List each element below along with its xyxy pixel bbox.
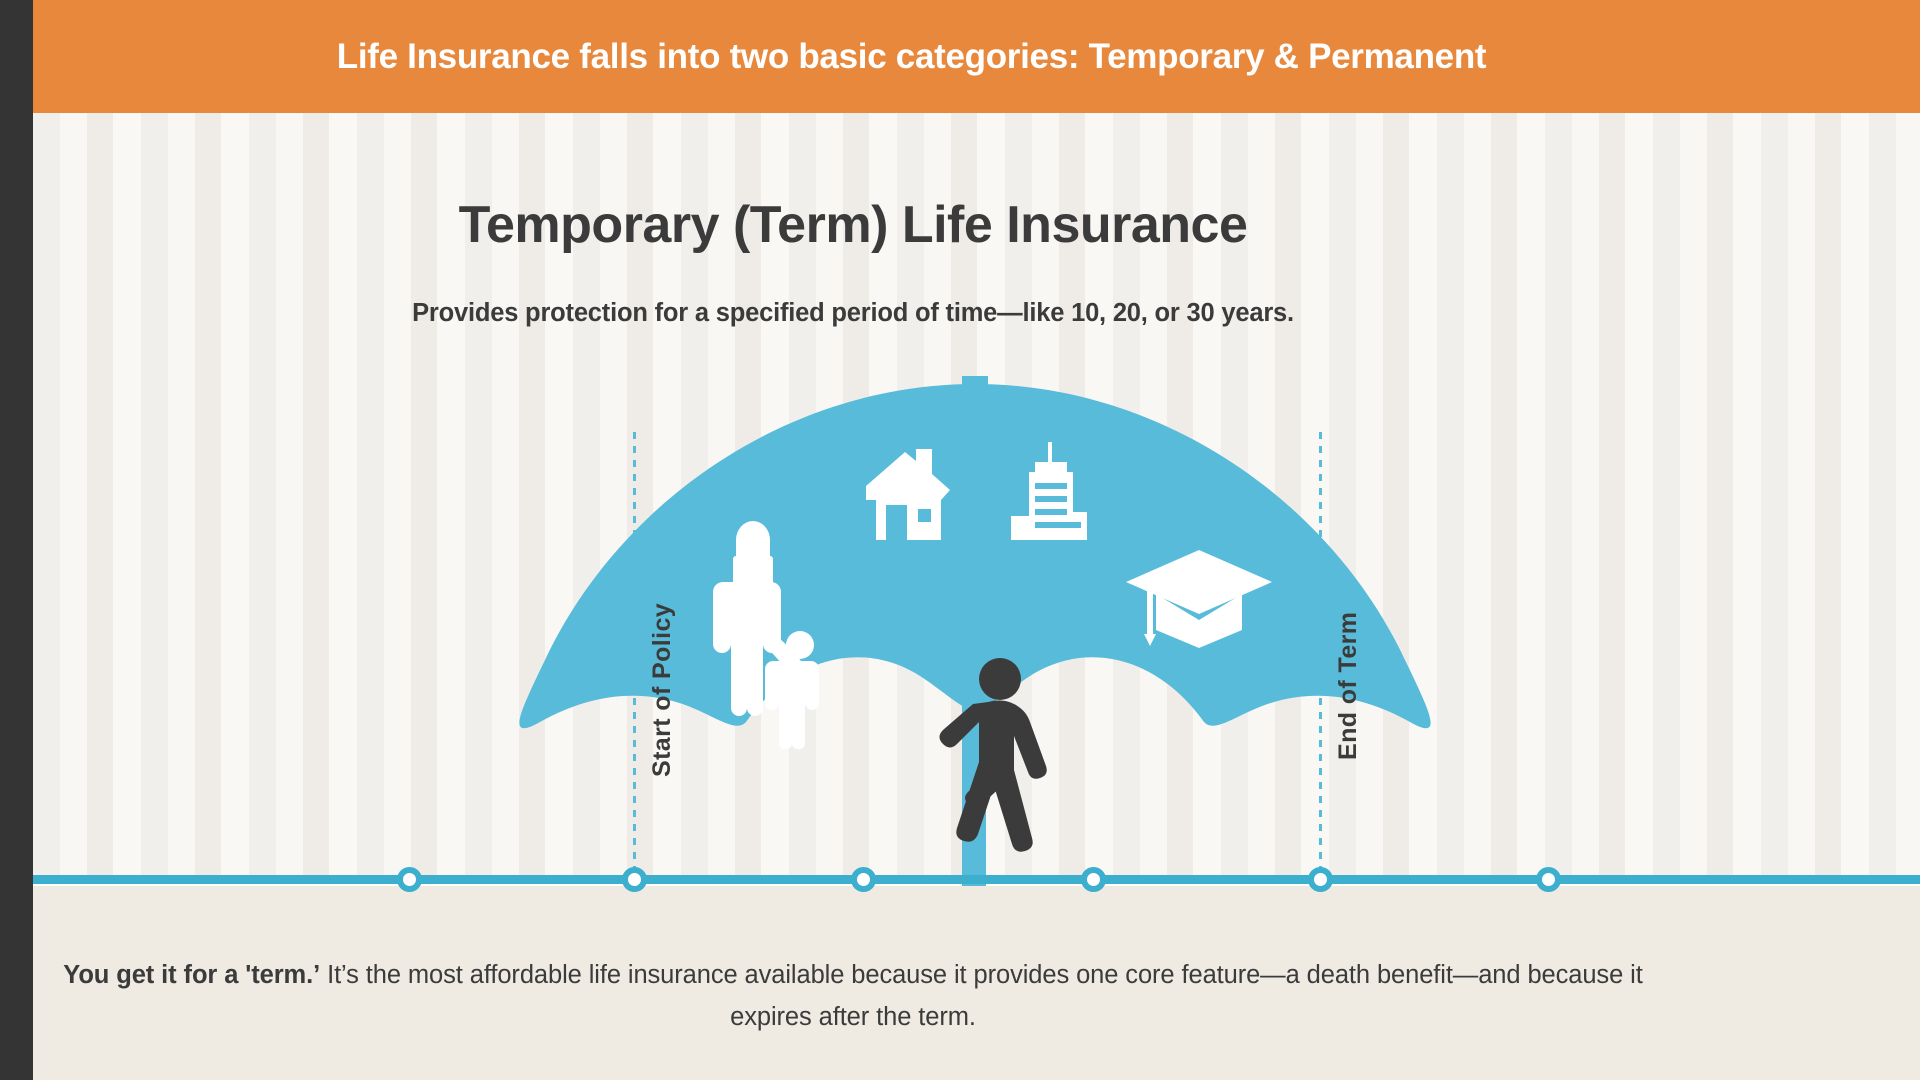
page-subtitle: Provides protection for a specified peri…	[33, 299, 1673, 328]
timeline-dot[interactable]	[622, 867, 647, 892]
infographic-slide: Temporary (Term) Life Insurance Provides…	[0, 0, 1920, 1080]
end-of-term-dashed-line	[1319, 432, 1322, 880]
caption-lead: You get it for a 'term.’	[63, 961, 320, 989]
caption-text: You get it for a 'term.’ It’s the most a…	[33, 954, 1673, 1038]
header-banner: Life Insurance falls into two basic cate…	[33, 0, 1920, 113]
start-of-policy-dashed-line	[633, 432, 636, 880]
end-of-term-label: End of Term	[1334, 612, 1363, 760]
timeline-dot[interactable]	[851, 867, 876, 892]
caption-rest: It’s the most affordable life insurance …	[320, 961, 1643, 1031]
timeline-dot[interactable]	[1308, 867, 1333, 892]
left-edge-rail	[0, 0, 33, 1080]
header-title: Life Insurance falls into two basic cate…	[337, 37, 1487, 77]
timeline-axis	[33, 875, 1920, 884]
timeline-dot[interactable]	[1536, 867, 1561, 892]
timeline-dot[interactable]	[1081, 867, 1106, 892]
timeline-dot[interactable]	[397, 867, 422, 892]
start-of-policy-label: Start of Policy	[648, 603, 677, 777]
page-title: Temporary (Term) Life Insurance	[33, 195, 1673, 255]
